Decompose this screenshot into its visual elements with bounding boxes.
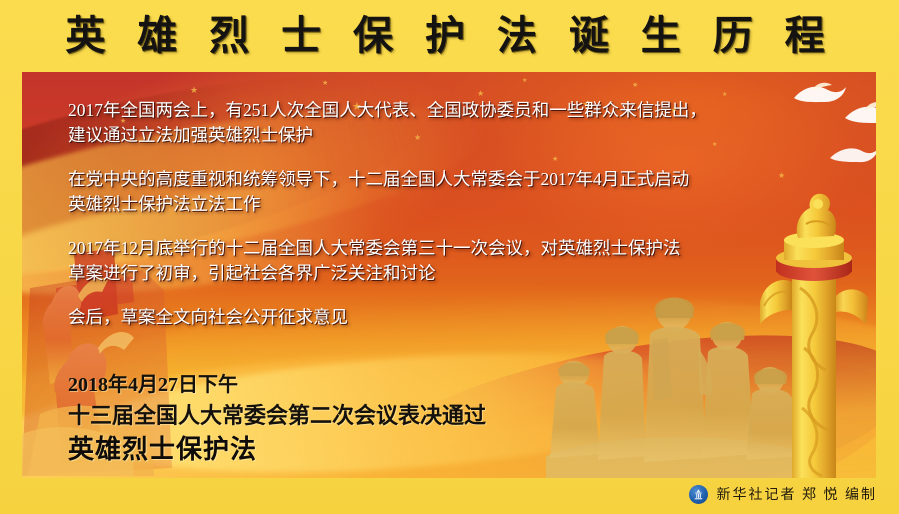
star-decor: ★ [190,86,198,95]
xinhua-emblem-icon [692,488,705,501]
star-decor: ★ [322,80,328,87]
paragraph-3: 2017年12月底举行的十二届全国人大常委会第三十一次会议，对英雄烈士保护法 草… [68,236,838,286]
final-event-line: 十三届全国人大常委会第二次会议表决通过 [68,400,486,432]
paragraph-4: 会后，草案全文向社会公开征求意见 [68,305,838,330]
star-decor: ★ [632,82,638,89]
page-title: 英 雄 烈 士 保 护 法 诞 生 历 程 [65,16,833,56]
poster-root: 英 雄 烈 士 保 护 法 诞 生 历 程 ★ ★ ★ ★ ★ ★ ★ ★ ★ … [0,0,899,514]
footer-credit-text: 新华社记者 郑 悦 编制 [717,484,878,504]
paragraph-2-line-2: 英雄烈士保护法立法工作 [68,192,838,217]
paragraph-2: 在党中央的高度重视和统筹领导下，十二届全国人大常委会于2017年4月正式启动 英… [68,167,838,217]
footer-credit: 新华社记者 郑 悦 编制 [689,480,878,508]
xinhua-logo-icon [689,485,708,504]
paragraph-1: 2017年全国两会上，有251人次全国人大代表、全国政协委员和一些群众来信提出，… [68,98,838,148]
final-date-line: 2018年4月27日下午 [68,370,486,400]
paragraph-2-line-1: 在党中央的高度重视和统筹领导下，十二届全国人大常委会于2017年4月正式启动 [68,167,838,192]
star-decor: ★ [522,78,527,84]
star-decor: ★ [477,90,484,98]
final-block: 2018年4月27日下午 十三届全国人大常委会第二次会议表决通过 英雄烈士保护法 [68,370,486,468]
paragraph-1-line-2: 建议通过立法加强英雄烈士保护 [68,123,838,148]
paragraph-3-line-1: 2017年12月底举行的十二届全国人大常委会第三十一次会议，对英雄烈士保护法 [68,236,838,261]
content-panel: ★ ★ ★ ★ ★ ★ ★ ★ ★ ★ ★ ★ ★ ★ ★ ★ [22,72,876,478]
paragraph-3-line-2: 草案进行了初审，引起社会各界广泛关注和讨论 [68,261,838,286]
paragraph-4-line-1: 会后，草案全文向社会公开征求意见 [68,305,838,330]
dove-icon [842,98,876,134]
title-bar: 英 雄 烈 士 保 护 法 诞 生 历 程 [0,0,899,72]
paragraph-1-line-1: 2017年全国两会上，有251人次全国人大代表、全国政协委员和一些群众来信提出， [68,98,838,123]
final-law-line: 英雄烈士保护法 [68,432,486,468]
body-text-block: 2017年全国两会上，有251人次全国人大代表、全国政协委员和一些群众来信提出，… [68,98,838,349]
